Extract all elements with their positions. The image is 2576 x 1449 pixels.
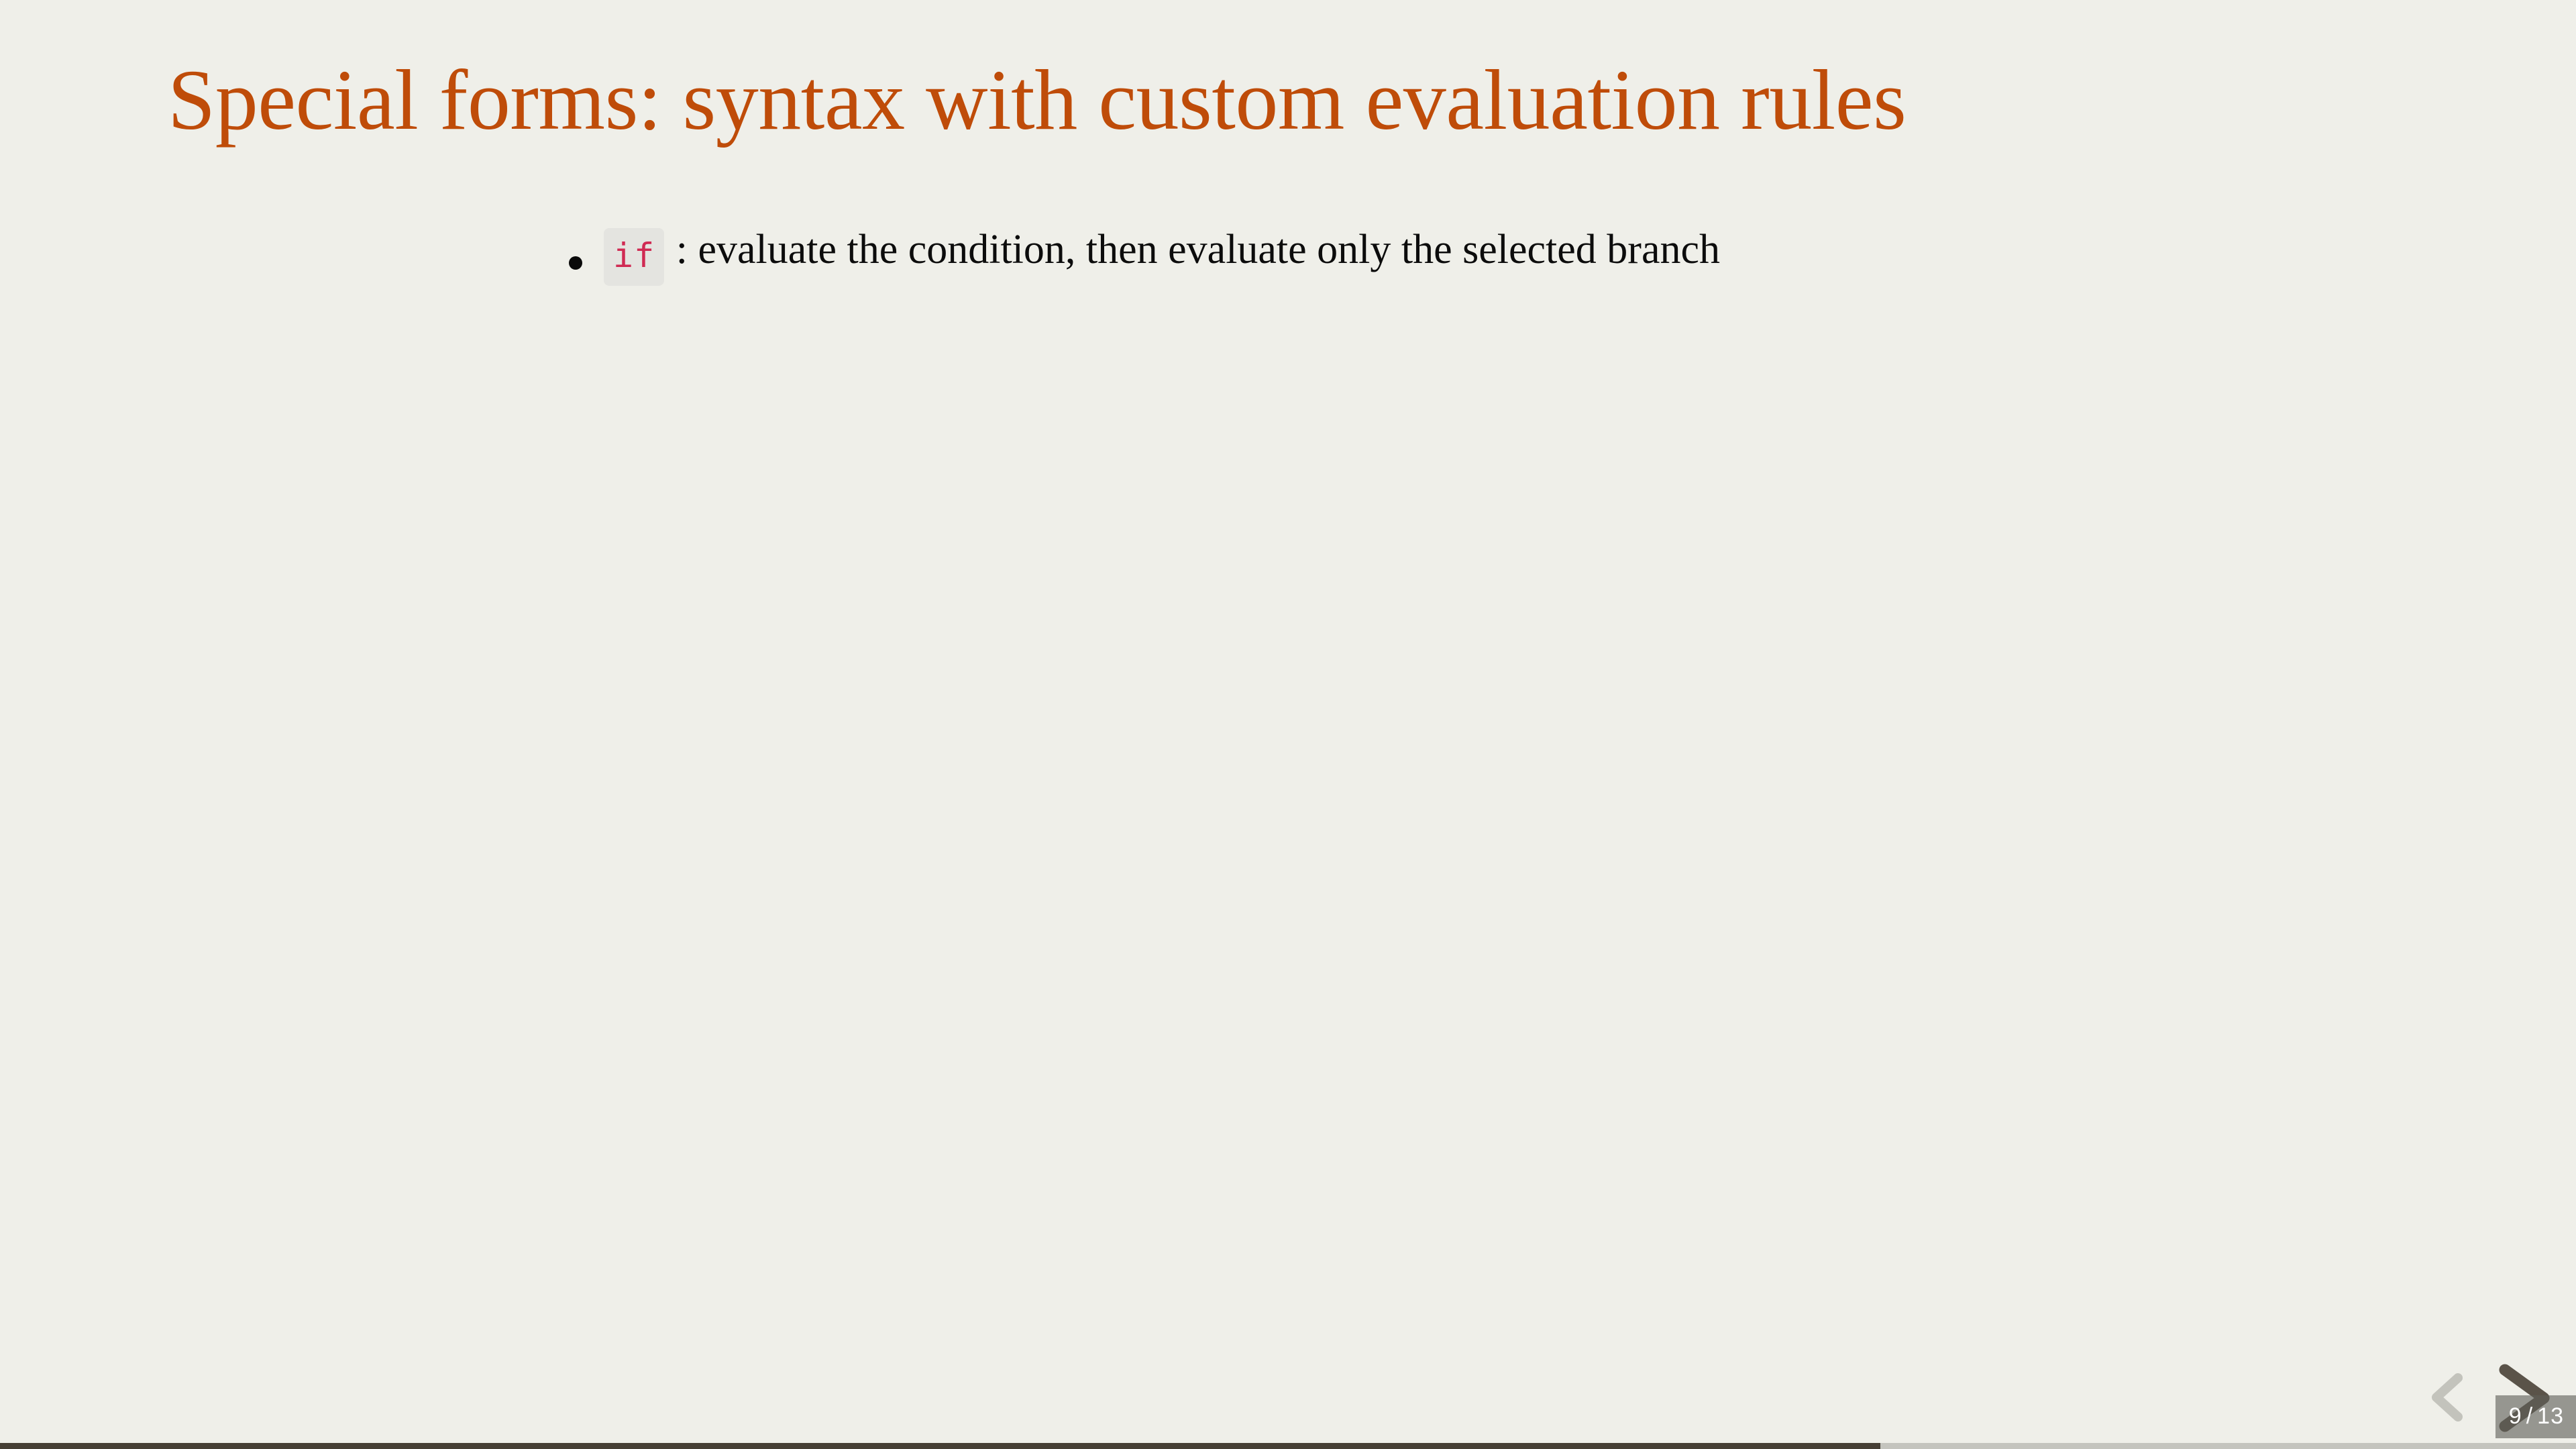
chevron-left-icon: [2428, 1373, 2465, 1422]
page-title: Special forms: syntax with custom evalua…: [168, 55, 2449, 145]
total-slide-number: 13: [2537, 1403, 2564, 1429]
slide-number-badge[interactable]: 9/13: [2495, 1395, 2576, 1438]
presentation-viewport: Special forms: syntax with custom evalua…: [0, 0, 2576, 1449]
slide-number-separator: /: [2526, 1403, 2533, 1429]
list-item-label: : evaluate the condition, then evaluate …: [665, 227, 1720, 272]
bullet-marker-icon: [569, 256, 582, 270]
presentation-progress-bar[interactable]: [0, 1443, 2576, 1449]
progress-fill: [0, 1443, 1880, 1449]
slide: Special forms: syntax with custom evalua…: [0, 0, 2576, 1449]
inline-code-if: if: [604, 228, 664, 286]
current-slide-number: 9: [2509, 1403, 2522, 1429]
bullet-list: if : evaluate the condition, then evalua…: [530, 223, 2341, 286]
previous-slide-button[interactable]: [2428, 1373, 2465, 1422]
list-item: if : evaluate the condition, then evalua…: [530, 223, 2341, 286]
